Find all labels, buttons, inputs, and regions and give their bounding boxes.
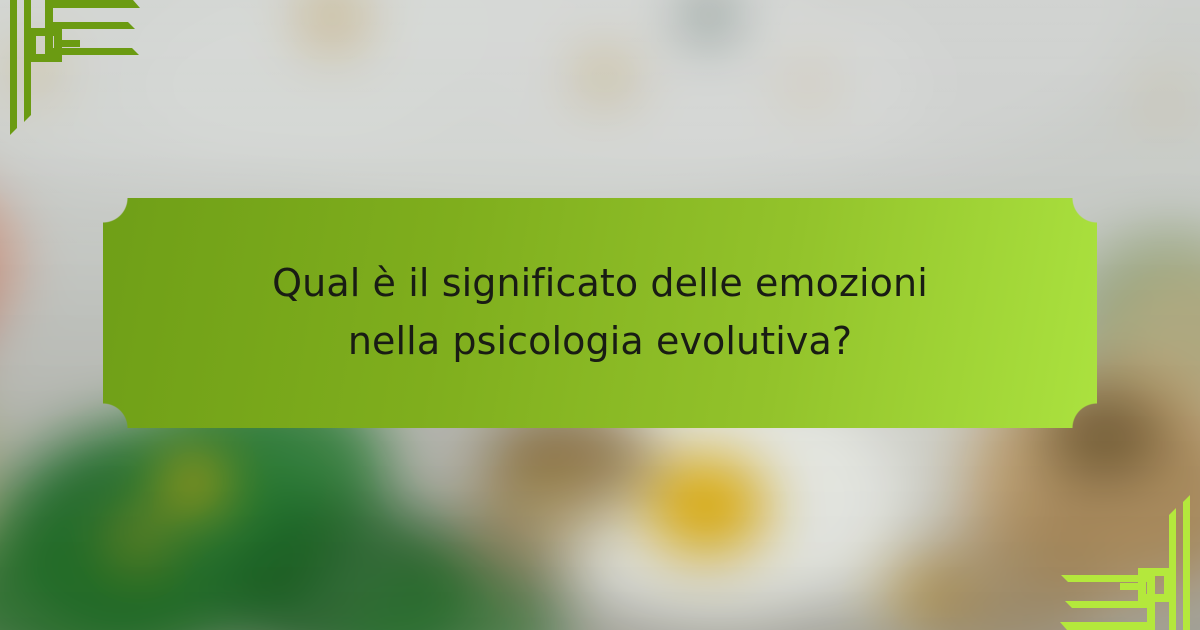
page-title: Qual è il significato delle emozioni nel…: [170, 255, 1030, 371]
headline-banner: Qual è il significato delle emozioni nel…: [103, 198, 1097, 428]
share-card: Qual è il significato delle emozioni nel…: [0, 0, 1200, 630]
